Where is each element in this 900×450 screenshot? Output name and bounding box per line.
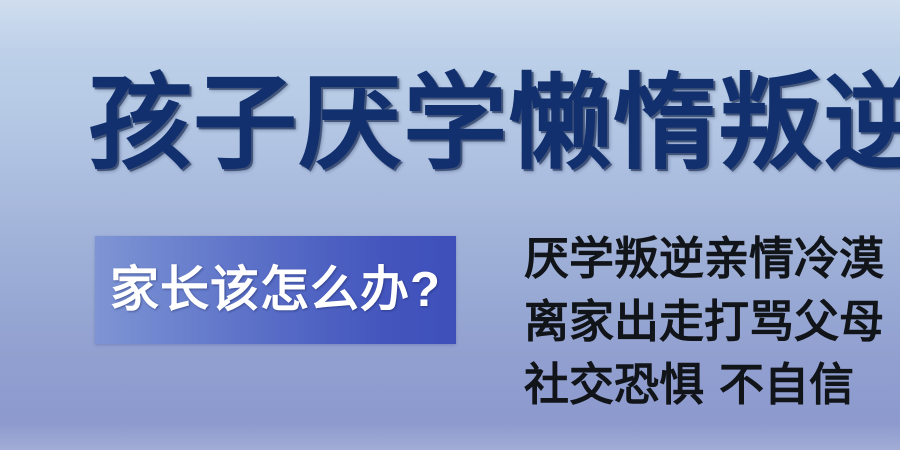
symptom-2-right: 打骂父母 xyxy=(704,299,884,344)
headline-part-2: 懒惰 xyxy=(508,69,718,179)
headline: 孩子厌学 懒惰 叛逆 xyxy=(88,56,828,192)
headline-part-3: 叛逆 xyxy=(718,69,900,179)
symptom-row-1: 厌学叛逆 亲情冷漠 xyxy=(524,236,854,281)
question-banner: 家长该怎么办? xyxy=(95,236,456,344)
symptom-1-left: 厌学叛逆 xyxy=(524,236,704,281)
symptom-row-3: 社交恐惧 不自信 xyxy=(524,362,854,407)
symptom-1-right: 亲情冷漠 xyxy=(704,236,884,281)
symptom-3-right: 不自信 xyxy=(719,362,854,407)
symptom-list: 厌学叛逆 亲情冷漠 离家出走 打骂父母 社交恐惧 不自信 xyxy=(524,236,854,407)
symptom-row-2: 离家出走 打骂父母 xyxy=(524,299,854,344)
symptom-3-left: 社交恐惧 xyxy=(524,362,704,407)
headline-part-1: 孩子厌学 xyxy=(88,69,508,179)
poster-canvas: 孩子厌学 懒惰 叛逆 家长该怎么办? 厌学叛逆 亲情冷漠 离家出走 打骂父母 社… xyxy=(0,0,900,450)
question-banner-text: 家长该怎么办? xyxy=(110,266,441,315)
background-haze-top xyxy=(0,0,900,50)
symptom-2-left: 离家出走 xyxy=(524,299,704,344)
background-haze-bottom xyxy=(0,424,900,450)
